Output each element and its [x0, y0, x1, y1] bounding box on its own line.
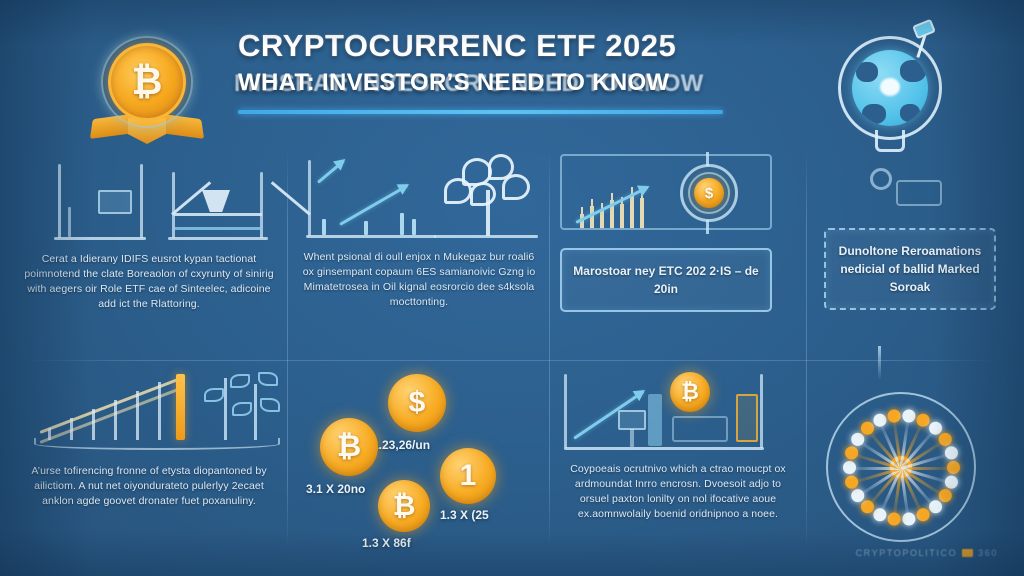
network-node — [929, 422, 942, 435]
investors-at-exchange-illustration-icon — [24, 152, 274, 244]
cell-r1-c1: Cerat a Idierany IDIFS eusrot kypan tact… — [24, 152, 274, 312]
cell-r2-c3: ₿ Coypoeais ocrutnivo which a ctrao mouc… — [560, 368, 796, 522]
watermark: CRYPTOPOLITICO 360 — [856, 548, 998, 558]
network-node — [945, 476, 958, 489]
globe-pin-icon — [828, 22, 954, 154]
cell-r2-c1: A’urse tofirencing fronne of etysta diop… — [24, 370, 274, 509]
network-node — [929, 500, 942, 513]
watermark-chip-icon — [962, 549, 973, 557]
coin-bitcoin-bottom-label: 1.3 X 86f — [362, 536, 411, 550]
poster-header: ₿ CRYPTOCURRENC ETF 2025 MIDSHAT: INVEST… — [0, 0, 1024, 150]
radial-network-diagram-icon — [826, 392, 976, 542]
coin-cluster: $ 1.23,26/un ₿ 3.1 X 20no 1 1.3 X (25 ₿ … — [300, 370, 538, 555]
cell-r1-c2: Whent psional di oull enjox n Mukegaz bu… — [300, 150, 538, 310]
network-node — [845, 476, 858, 489]
cell-r1-c4-callout-text: Dunoltone Reroamations nedicial of balli… — [836, 242, 984, 296]
network-node — [843, 461, 856, 474]
network-node — [845, 446, 858, 459]
network-node — [902, 410, 915, 423]
cell-r1-c3-callout: Marostoar ney ETC 202 2·IS – de 20in — [560, 248, 772, 312]
candlestick-chart-and-coin-target-illustration-icon: $ — [560, 150, 796, 242]
network-node — [851, 433, 864, 446]
cell-r1-c3: $ Marostoar ney ETC 202 2·IS – de 20in — [560, 150, 796, 242]
infographic-poster: ₿ CRYPTOCURRENC ETF 2025 MIDSHAT: INVEST… — [0, 0, 1024, 576]
coin-bitcoin-left: ₿ — [320, 418, 378, 476]
coin-bitcoin-left-label: 3.1 X 20no — [306, 482, 365, 496]
bitcoin-emblem-badge-icon: ₿ — [88, 26, 206, 144]
network-node — [947, 461, 960, 474]
page-title: CRYPTOCURRENC ETF 2025 — [238, 28, 738, 64]
coin-one-label: 1.3 X (25 — [440, 508, 489, 522]
network-node — [939, 489, 952, 502]
cell-r1-c4-callout: Dunoltone Reroamations nedicial of balli… — [824, 228, 996, 310]
watermark-text: CRYPTOPOLITICO — [856, 548, 958, 558]
page-subtitle: WHAT: INVESTOR’S NEED TO KNOW — [238, 69, 669, 97]
panel-stem — [878, 346, 881, 380]
recommendation-panel-art — [818, 150, 1004, 224]
network-node — [873, 414, 886, 427]
network-node — [945, 446, 958, 459]
cell-r2-c3-text: Coypoeais ocrutnivo which a ctrao moucpt… — [560, 462, 796, 522]
coin-one: 1 — [440, 448, 496, 504]
ascending-ladder-and-plant-illustration-icon — [24, 370, 274, 456]
coin-bitcoin-bottom: ₿ — [378, 480, 430, 532]
cell-r2-c2: $ 1.23,26/un ₿ 3.1 X 20no 1 1.3 X (25 ₿ … — [300, 370, 538, 560]
row-divider — [24, 360, 1000, 361]
market-activity-illustration-icon: ₿ — [560, 368, 796, 454]
network-node — [917, 414, 930, 427]
cell-r1-c1-text: Cerat a Idierany IDIFS eusrot kypan tact… — [24, 252, 274, 312]
cell-r1-c4: Dunoltone Reroamations nedicial of balli… — [818, 150, 1004, 224]
network-node — [888, 410, 901, 423]
network-node — [851, 489, 864, 502]
growth-arrows-and-money-tree-illustration-icon — [300, 150, 538, 242]
network-node — [861, 422, 874, 435]
column-divider-1 — [287, 150, 288, 550]
cell-r2-c1-text: A’urse tofirencing fronne of etysta diop… — [24, 464, 274, 509]
network-node — [873, 508, 886, 521]
coin-dollar: $ — [388, 374, 446, 432]
network-node — [917, 508, 930, 521]
network-node — [939, 433, 952, 446]
network-node — [902, 512, 915, 525]
watermark-suffix: 360 — [978, 548, 998, 558]
cell-r1-c3-callout-text: Marostoar ney ETC 202 2·IS – de 20in — [572, 262, 760, 298]
network-node — [861, 500, 874, 513]
network-node — [888, 512, 901, 525]
title-underline-rule — [238, 110, 723, 114]
column-divider-3 — [806, 150, 807, 550]
cell-r1-c2-text: Whent psional di oull enjox n Mukegaz bu… — [300, 250, 538, 310]
title-block: CRYPTOCURRENC ETF 2025 MIDSHAT: INVESTOR… — [238, 28, 738, 103]
bitcoin-symbol: ₿ — [132, 63, 163, 101]
coin-dollar-label: 1.23,26/un — [372, 438, 430, 452]
column-divider-2 — [549, 150, 550, 550]
